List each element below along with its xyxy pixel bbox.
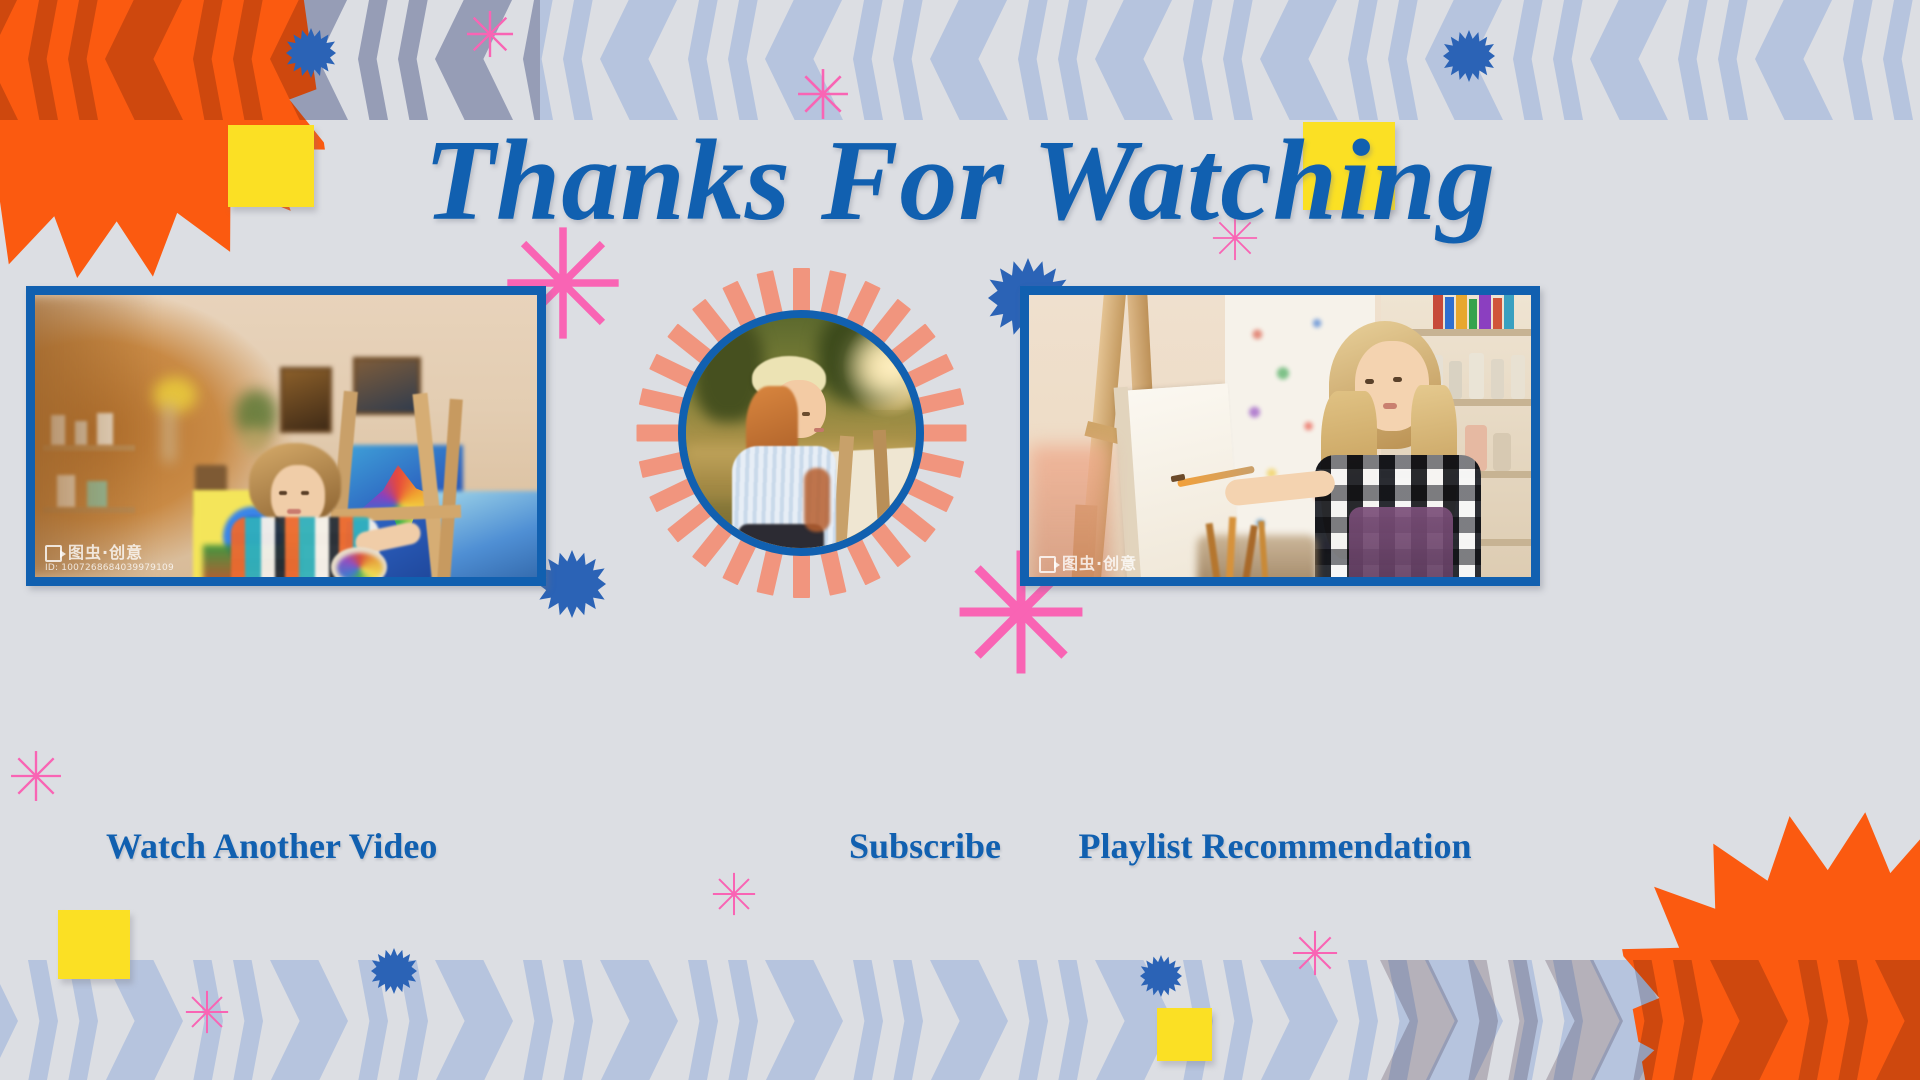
chevron-wide [435, 960, 513, 1080]
chevron-wide [600, 960, 678, 1080]
blue-spiky-star-bottom-left [371, 948, 417, 994]
photo-art-classroom [1029, 295, 1531, 577]
chevron-thin [1883, 0, 1913, 120]
chevron-wide [1095, 0, 1173, 120]
chevron-wide [765, 960, 843, 1080]
photo-painter-sunset [678, 310, 924, 556]
yellow-star-icon [1157, 1008, 1212, 1061]
pink-asterisk-top-left [466, 10, 514, 58]
chevron-thin [563, 0, 593, 120]
chevron-thin [1633, 960, 1663, 1080]
blue-spiky-star-bottom-center [1140, 955, 1182, 997]
blue-spiky-star-icon [1140, 955, 1182, 997]
sunburst-ray [820, 549, 846, 596]
chevron-thin [1673, 960, 1703, 1080]
chevron-thin [1678, 0, 1708, 120]
chevron-wide [105, 0, 183, 120]
chevron-thin [28, 960, 58, 1080]
chevron-thin [398, 0, 428, 120]
chevron-thin [523, 960, 553, 1080]
blue-spiky-star-icon [1443, 30, 1495, 82]
caption-subscribe[interactable]: Subscribe [849, 825, 1001, 867]
sunburst-ray [917, 452, 964, 478]
end-card-canvas: Thanks For Watching [0, 0, 1920, 1080]
chevron-wide [930, 960, 1008, 1080]
chevron-thin [1058, 960, 1088, 1080]
sunburst-ray [638, 388, 685, 414]
chevron-thin [688, 960, 718, 1080]
chevron-wide [0, 960, 18, 1080]
chevron-thin [688, 0, 718, 120]
chevron-wide [1875, 960, 1920, 1080]
pink-asterisk-bottom-center [712, 872, 756, 916]
chevron-thin [1798, 960, 1828, 1080]
blue-spiky-star-icon [286, 28, 336, 78]
sunburst-ray [922, 425, 966, 442]
chevron-thin [233, 0, 263, 120]
asterisk-icon [10, 750, 62, 802]
asterisk-icon [466, 10, 514, 58]
asterisk-icon [712, 872, 756, 916]
caption-playlist-recommendation[interactable]: Playlist Recommendation [1079, 825, 1472, 867]
chevron-thin [1183, 0, 1213, 120]
chevron-thin [1348, 0, 1378, 120]
chevron-thin [1058, 0, 1088, 120]
chevron-thin [1553, 0, 1583, 120]
chevron-thin [1018, 0, 1048, 120]
chevron-overlay-top-left [0, 0, 540, 120]
yellow-star-bottom-left [58, 910, 130, 979]
chevron-wide [1545, 960, 1623, 1080]
asterisk-icon [797, 68, 849, 120]
chevron-thin [853, 0, 883, 120]
yellow-star-icon [58, 910, 130, 979]
chevron-overlay-bottom-right [1380, 960, 1920, 1080]
chevron-thin [1018, 960, 1048, 1080]
caption-watch-another-video[interactable]: Watch Another Video [106, 825, 437, 867]
chevron-thin [853, 960, 883, 1080]
chevron-thin [1843, 0, 1873, 120]
chevron-wide [1710, 960, 1788, 1080]
pink-asterisk-title-left [797, 68, 849, 120]
sunburst-ray [638, 452, 685, 478]
chevron-wide [1260, 0, 1338, 120]
card-watch-another-video[interactable]: 图虫·创意 ID: 1007268684039979109 [26, 286, 546, 586]
chevron-wide [1755, 0, 1833, 120]
chevron-thin [28, 0, 58, 120]
chevron-thin [1508, 960, 1538, 1080]
chevron-thin [1223, 0, 1253, 120]
chevron-thin [1223, 960, 1253, 1080]
card-playlist-recommendation[interactable]: 图虫·创意 [1020, 286, 1540, 586]
chevron-thin [1513, 0, 1543, 120]
photo-art-studio [35, 295, 537, 577]
chevron-thin [893, 960, 923, 1080]
chevron-wide [930, 0, 1008, 120]
sunburst-ray [820, 270, 846, 317]
yellow-star-bottom-center [1157, 1008, 1212, 1061]
pink-asterisk-mid-left [10, 750, 62, 802]
sunburst-ray [636, 425, 680, 442]
page-title: Thanks For Watching [0, 118, 1920, 246]
chevron-wide [1260, 960, 1338, 1080]
chevron-thin [358, 0, 388, 120]
chevron-thin [563, 960, 593, 1080]
chevron-wide [1380, 960, 1458, 1080]
pink-asterisk-bottom-right [1292, 930, 1338, 976]
chevron-thin [1388, 0, 1418, 120]
chevron-wide [0, 0, 18, 120]
pink-asterisk-bottom-left [185, 990, 229, 1034]
sunburst-ray [756, 270, 782, 317]
blue-spiky-star-top-left [286, 28, 336, 78]
chevron-thin [893, 0, 923, 120]
asterisk-icon [1292, 930, 1338, 976]
chevron-thin [1718, 0, 1748, 120]
blue-spiky-star-icon [538, 550, 606, 618]
sunburst-ray [793, 268, 810, 312]
chevron-thin [728, 960, 758, 1080]
chevron-thin [523, 0, 540, 120]
chevron-wide [1590, 0, 1668, 120]
chevron-wide [600, 0, 678, 120]
blue-spiky-star-icon [371, 948, 417, 994]
sunburst-ray [756, 549, 782, 596]
sunburst-ray [917, 388, 964, 414]
blue-spiky-star-center-left [538, 550, 606, 618]
chevron-thin [1348, 960, 1378, 1080]
chevron-thin [728, 0, 758, 120]
asterisk-icon [185, 990, 229, 1034]
chevron-thin [1838, 960, 1868, 1080]
chevron-thin [68, 0, 98, 120]
blue-spiky-star-top-right [1443, 30, 1495, 82]
chevron-wide [270, 960, 348, 1080]
chevron-thin [1468, 960, 1498, 1080]
chevron-thin [233, 960, 263, 1080]
card-subscribe[interactable] [636, 268, 966, 598]
sunburst-ray [793, 554, 810, 598]
chevron-thin [193, 0, 223, 120]
